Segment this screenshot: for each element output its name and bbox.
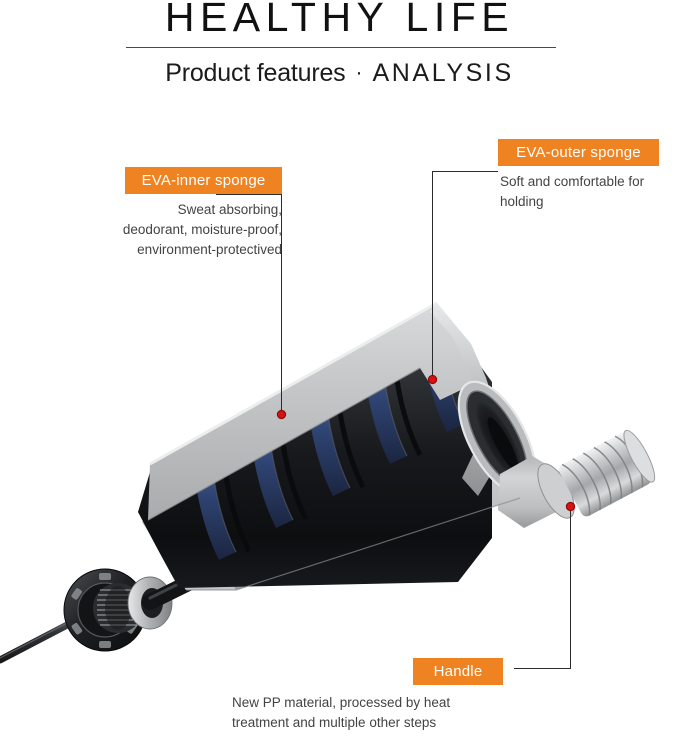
infographic-page: HEALTHY LIFE Product features·ANALYSIS: [0, 0, 679, 744]
leader-line-horizontal-eva-inner: [216, 194, 282, 195]
description-eva-inner-sponge: Sweat absorbing, deodorant, moisture-pro…: [40, 200, 282, 260]
leader-line-vertical-eva-outer: [432, 171, 433, 380]
badge-eva-outer-sponge[interactable]: EVA-outer sponge: [498, 139, 659, 166]
handle-body-graphic: [138, 303, 660, 590]
badge-eva-inner-sponge[interactable]: EVA-inner sponge: [125, 167, 282, 194]
page-title: HEALTHY LIFE: [0, 0, 679, 40]
title-divider: [126, 47, 556, 48]
description-handle: New PP material, processed by heat treat…: [232, 693, 552, 733]
subtitle-left-text: Product features: [165, 59, 345, 87]
leader-line-horizontal-eva-outer: [432, 171, 498, 172]
page-header: HEALTHY LIFE Product features·ANALYSIS: [0, 0, 679, 100]
leader-line-vertical-handle: [570, 508, 571, 669]
badge-handle[interactable]: Handle: [413, 658, 503, 685]
marker-dot-handle: [566, 502, 575, 511]
description-eva-outer-sponge: Soft and comfortable for holding: [500, 172, 679, 212]
marker-dot-eva-inner: [277, 410, 286, 419]
page-subtitle: Product features·ANALYSIS: [0, 57, 679, 91]
marker-dot-eva-outer: [428, 375, 437, 384]
subtitle-right-text: ANALYSIS: [373, 59, 514, 87]
subtitle-separator-dot: ·: [346, 61, 373, 84]
product-illustration: [0, 260, 679, 680]
leader-line-horizontal-handle: [514, 668, 571, 669]
